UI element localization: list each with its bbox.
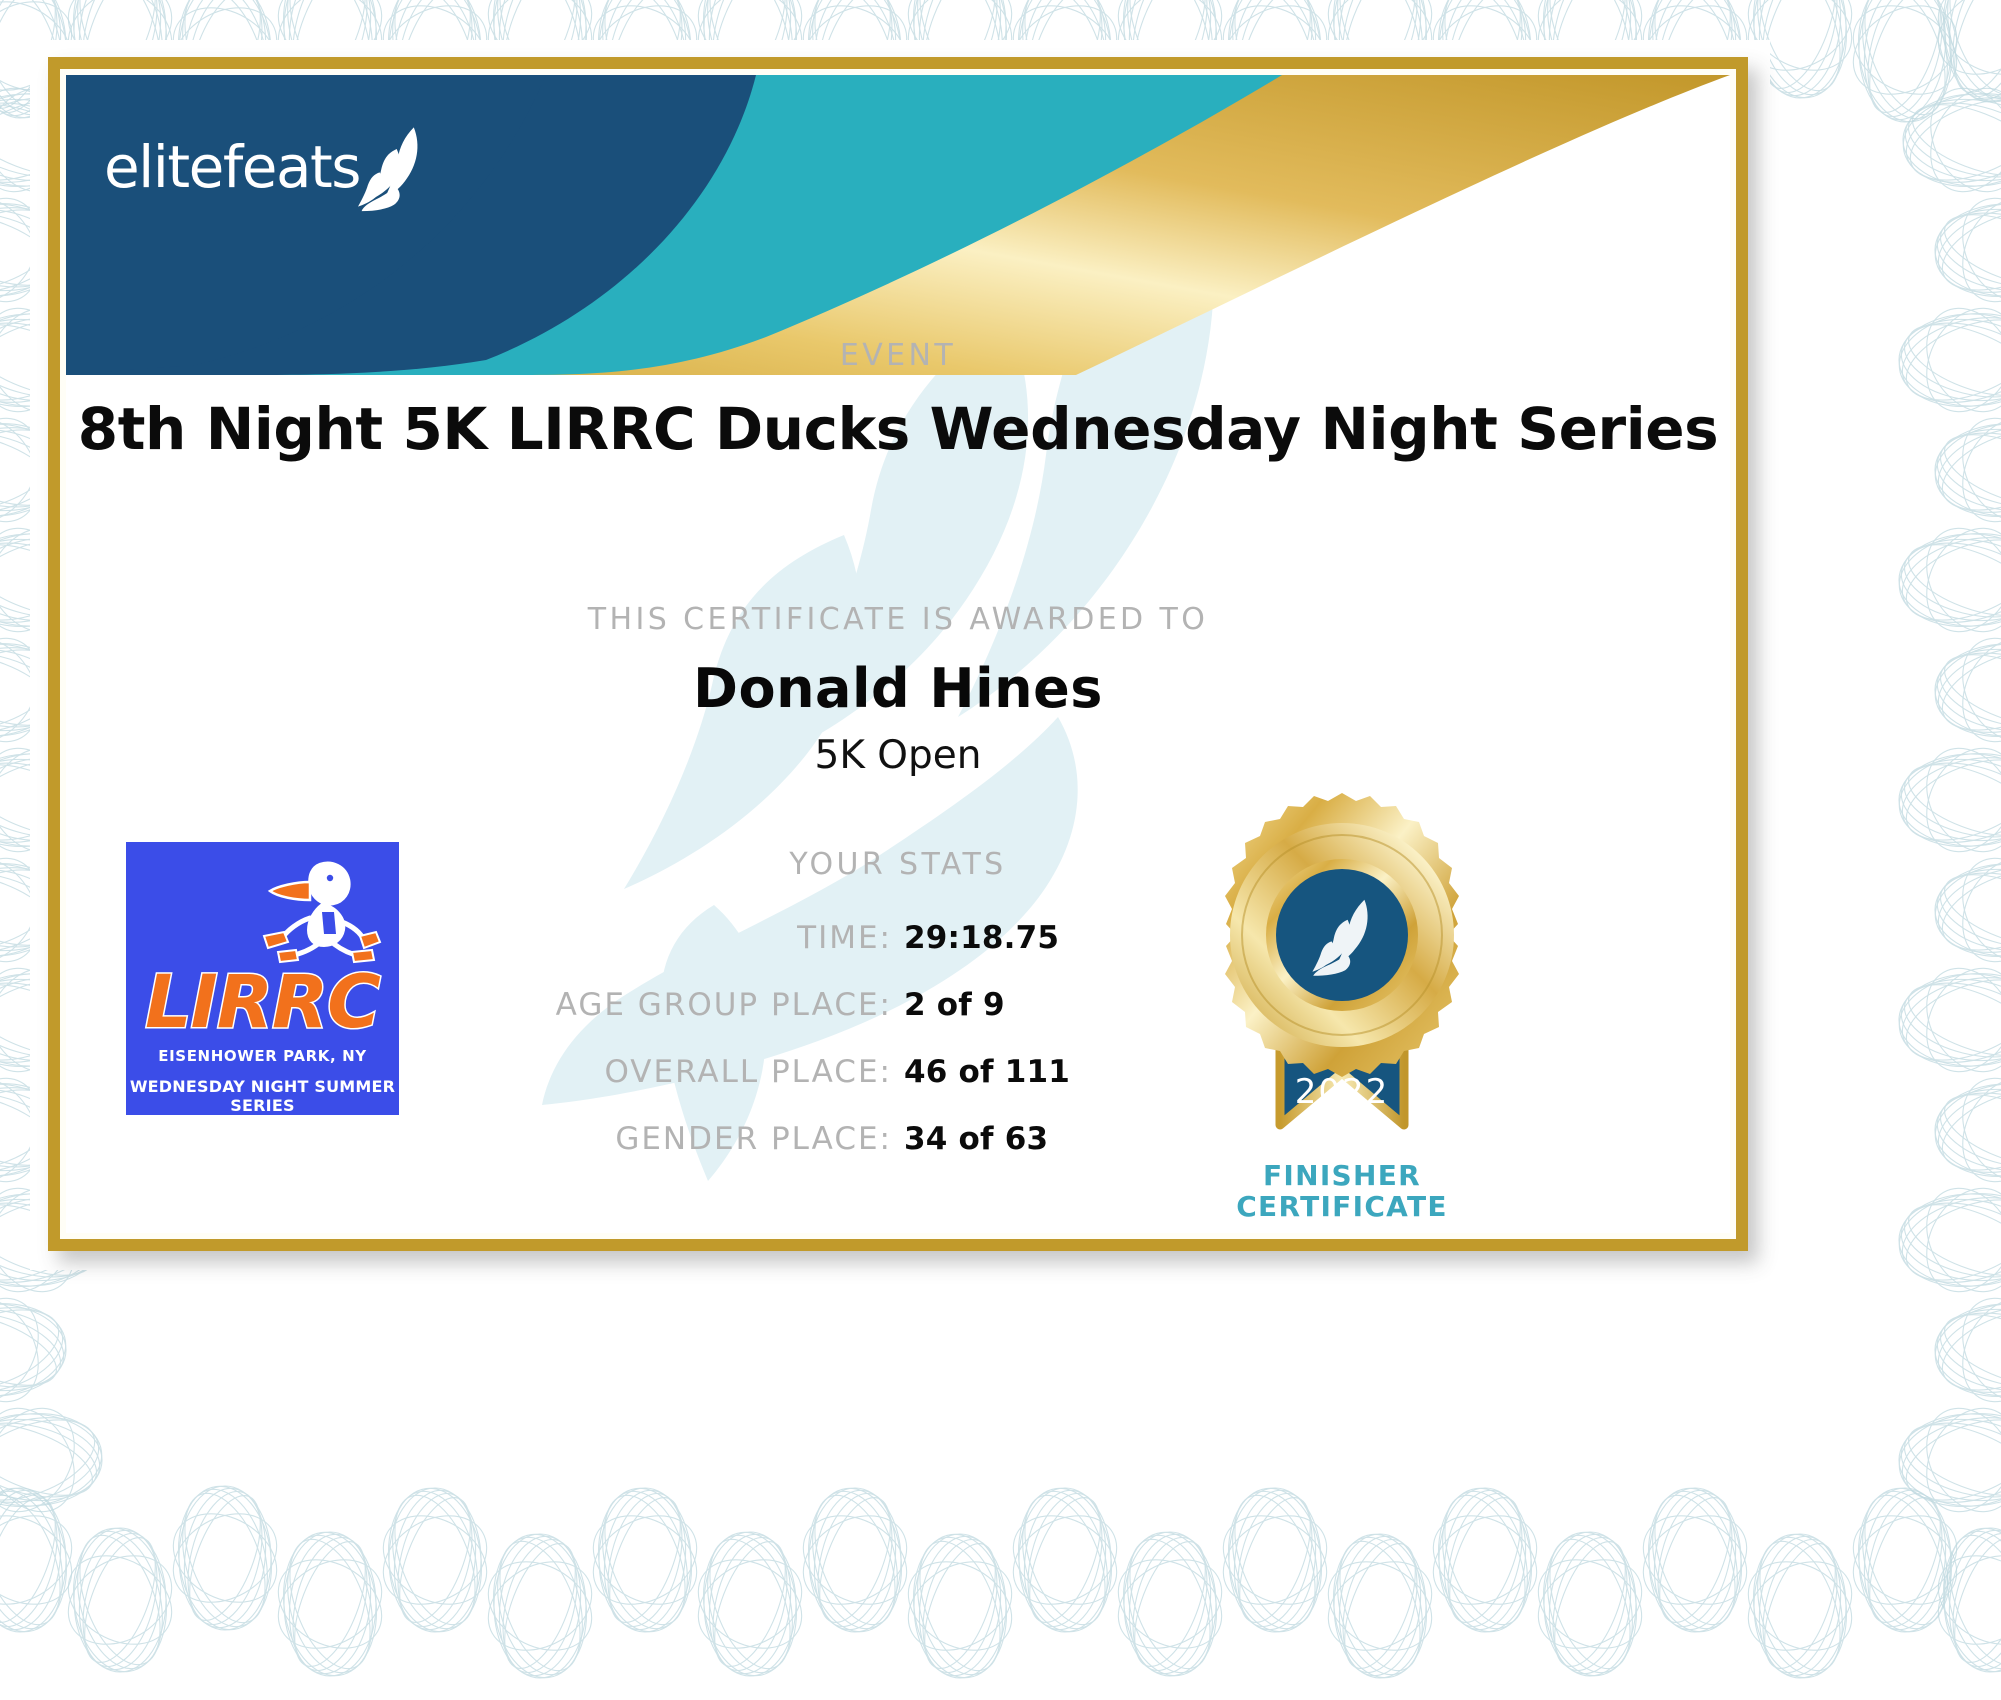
- lirrc-race-logo: LIRRC EISENHOWER PARK, NY WEDNESDAY NIGH…: [126, 842, 399, 1115]
- lirrc-location-text: EISENHOWER PARK, NY: [126, 1047, 399, 1065]
- stat-label-gender-place: GENDER PLACE:: [172, 1121, 892, 1157]
- awarded-to-label: THIS CERTIFICATE IS AWARDED TO: [66, 602, 1730, 637]
- recipient-name: Donald Hines: [66, 657, 1730, 720]
- running-duck-mascot-icon: [234, 856, 384, 966]
- lirrc-series-text: WEDNESDAY NIGHT SUMMER SERIES: [126, 1077, 399, 1115]
- medal-caption: FINISHER CERTIFICATE: [1172, 1160, 1512, 1223]
- event-section-label: EVENT: [66, 338, 1730, 373]
- certificate-body: elitefeats EVENT 8th Night 5K LIRRC Duck…: [66, 75, 1730, 1233]
- recipient-division: 5K Open: [66, 733, 1730, 778]
- medal-caption-line-2: CERTIFICATE: [1172, 1191, 1512, 1222]
- lirrc-wordmark: LIRRC: [126, 960, 399, 1045]
- medal-caption-line-1: FINISHER: [1172, 1160, 1512, 1191]
- finisher-medal-badge: 2022: [1192, 785, 1492, 1185]
- certificate-page: elitefeats EVENT 8th Night 5K LIRRC Duck…: [0, 0, 2001, 1700]
- medal-year-text: 2022: [1295, 1072, 1390, 1112]
- certificate-content: EVENT 8th Night 5K LIRRC Ducks Wednesday…: [66, 75, 1730, 1233]
- event-title: 8th Night 5K LIRRC Ducks Wednesday Night…: [66, 395, 1730, 463]
